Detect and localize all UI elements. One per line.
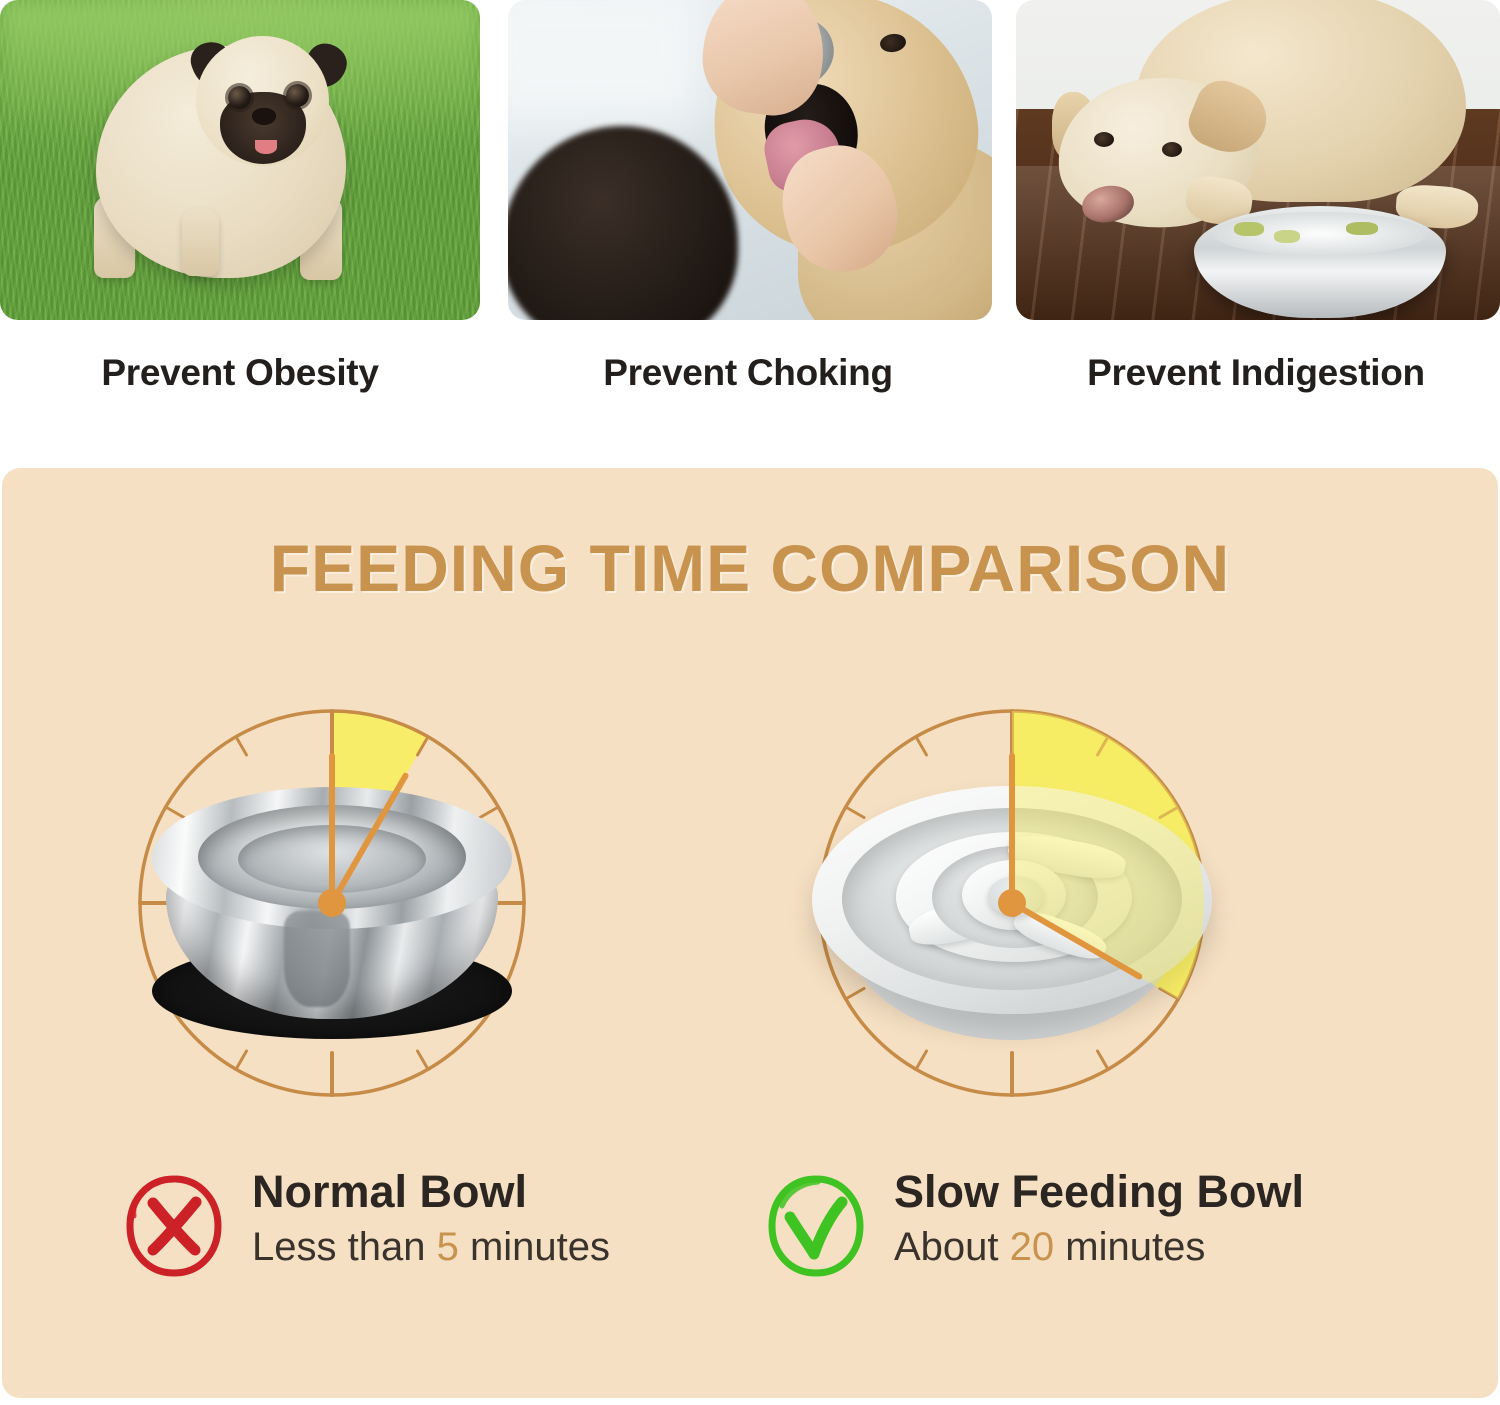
pug-nose <box>252 108 276 125</box>
background-blur <box>508 0 702 122</box>
benefit-card-indigestion: Prevent Indigestion <box>1016 0 1496 440</box>
bowl-well <box>238 825 426 893</box>
result-subtitle: About 20 minutes <box>894 1225 1304 1270</box>
pug-eye <box>286 84 309 107</box>
benefit-card-choking: Prevent Choking <box>508 0 988 440</box>
kibble <box>1346 222 1378 235</box>
labrador-eye <box>1162 142 1182 157</box>
benefit-label-obesity: Prevent Obesity <box>0 352 480 394</box>
result-sub-value: 5 <box>437 1225 459 1269</box>
result-slow-feeding-bowl: Slow Feeding Bowl About 20 minutes <box>762 1168 1422 1338</box>
result-text-normal-bowl: Normal Bowl Less than 5 minutes <box>252 1168 610 1270</box>
photo-indigestion-dog <box>1016 0 1500 320</box>
feeding-time-comparison-panel: FEEDING TIME COMPARISON <box>2 468 1498 1398</box>
result-title: Normal Bowl <box>252 1168 610 1217</box>
clock-column-normal-bowl <box>52 678 612 1148</box>
result-normal-bowl: Normal Bowl Less than 5 minutes <box>120 1168 780 1338</box>
result-sub-value: 20 <box>1010 1225 1055 1269</box>
benefit-label-indigestion: Prevent Indigestion <box>1016 352 1496 394</box>
slow-feeding-bowl-image <box>812 780 1212 1048</box>
kibble <box>1234 222 1264 236</box>
cross-icon <box>120 1172 228 1280</box>
result-subtitle: Less than 5 minutes <box>252 1225 610 1270</box>
result-sub-suffix: minutes <box>1065 1225 1205 1269</box>
result-sub-prefix: Less than <box>252 1225 425 1269</box>
clock-column-slow-bowl <box>732 678 1292 1148</box>
benefits-strip: Prevent Obesity Prevent Choking <box>0 0 1500 440</box>
check-icon <box>762 1172 870 1280</box>
photo-choking-dog <box>508 0 992 320</box>
pug-eye <box>228 86 251 109</box>
kibble <box>1274 230 1300 243</box>
result-sub-prefix: About <box>894 1225 999 1269</box>
result-text-slow-bowl: Slow Feeding Bowl About 20 minutes <box>894 1168 1304 1270</box>
pug-tongue <box>255 140 277 154</box>
labrador-eye <box>1094 132 1114 147</box>
results-row: Normal Bowl Less than 5 minutes Slow Fee… <box>2 1168 1498 1358</box>
benefit-label-choking: Prevent Choking <box>508 352 988 394</box>
maze-center-hub <box>988 876 1044 916</box>
page-title: FEEDING TIME COMPARISON <box>2 530 1498 606</box>
result-title: Slow Feeding Bowl <box>894 1168 1304 1217</box>
bowl-reflection <box>284 911 350 1007</box>
clock-comparison-row <box>2 678 1498 1148</box>
benefit-card-obesity: Prevent Obesity <box>0 0 480 440</box>
normal-bowl-image <box>152 779 512 1041</box>
pug-leg <box>182 208 219 276</box>
result-sub-suffix: minutes <box>470 1225 610 1269</box>
photo-obese-pug <box>0 0 480 320</box>
